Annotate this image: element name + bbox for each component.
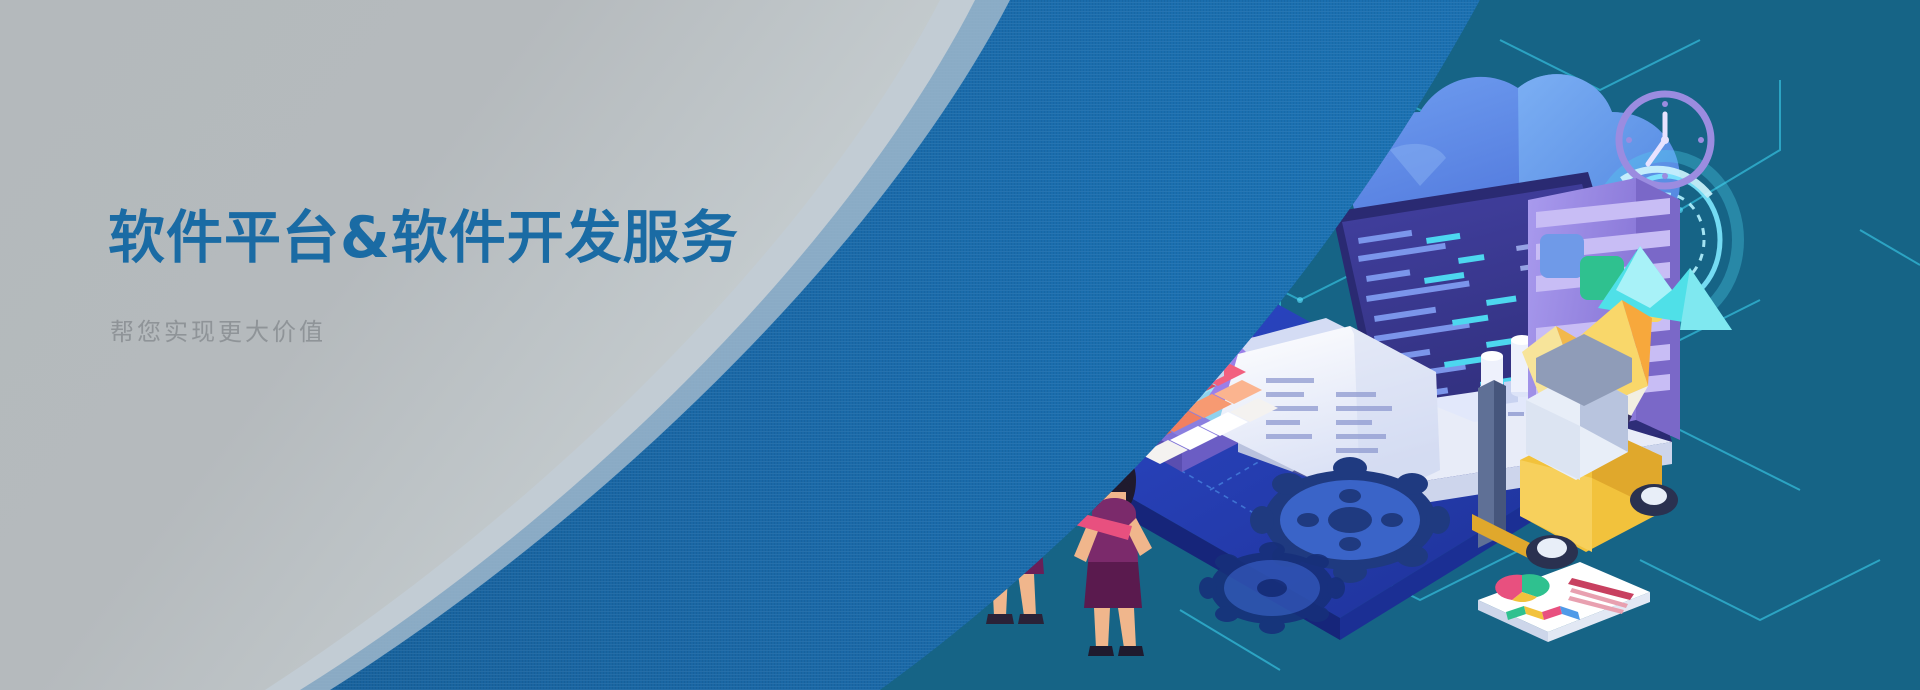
banner-copy: 软件平台&软件开发服务 帮您实现更大价值: [108, 205, 828, 347]
page-title: 软件平台&软件开发服务: [108, 205, 828, 272]
wrench-icon: [1142, 66, 1247, 354]
engineer-figure: [1093, 222, 1205, 412]
card-blue: [1540, 234, 1584, 278]
shield-icon: [918, 40, 1030, 220]
hero-banner: 软件平台&软件开发服务 帮您实现更大价值: [0, 0, 1920, 690]
solar-panel-icon: [998, 166, 1088, 274]
page-subtitle: 帮您实现更大价值: [110, 312, 828, 347]
camera-card-icon: [908, 270, 1020, 400]
isometric-illustration: [880, 0, 1920, 690]
gear-badge-icon: [1178, 32, 1266, 92]
